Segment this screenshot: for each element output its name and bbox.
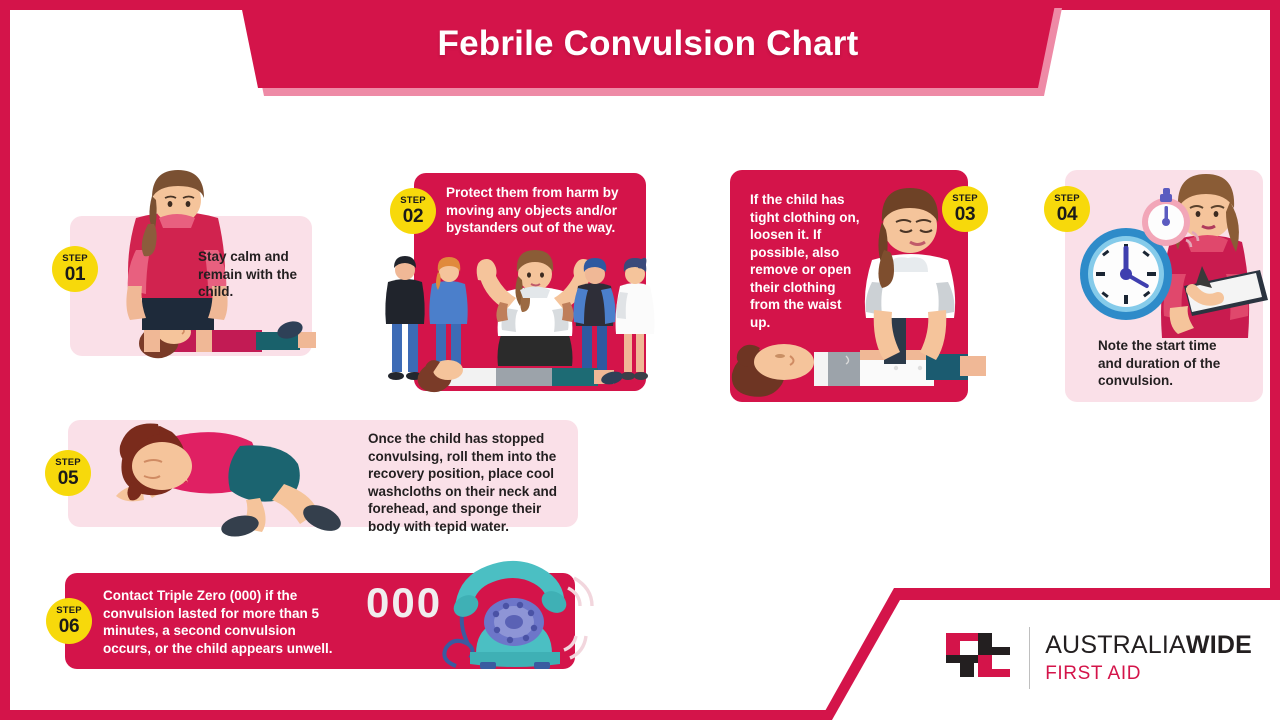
step-6-badge: STEP 06 bbox=[46, 598, 92, 644]
step-5-badge-number: 05 bbox=[58, 469, 79, 488]
step-4-badge-word: STEP bbox=[1054, 194, 1080, 204]
title-banner: Febrile Convulsion Chart bbox=[10, 0, 1270, 100]
step-2-badge-word: STEP bbox=[400, 196, 426, 206]
step-2-badge-number: 02 bbox=[403, 207, 424, 226]
page-title: Febrile Convulsion Chart bbox=[222, 0, 1074, 88]
step-1-text: Stay calm and remain with the child. bbox=[198, 248, 302, 301]
step-1-badge-word: STEP bbox=[62, 254, 88, 264]
logo-name-thin: AUSTRALIA bbox=[1045, 631, 1186, 659]
step-6-badge-word: STEP bbox=[56, 606, 82, 616]
brand-logo: AUSTRALIAWIDE FIRST AID bbox=[942, 619, 1252, 696]
step-4-badge: STEP 04 bbox=[1044, 186, 1090, 232]
step-6-emergency-number: 000 bbox=[366, 576, 446, 631]
logo-name-bold: WIDE bbox=[1186, 631, 1252, 659]
step-5-badge: STEP 05 bbox=[45, 450, 91, 496]
logo-divider bbox=[1029, 627, 1030, 689]
step-6-badge-number: 06 bbox=[59, 617, 80, 636]
step-4-illustration bbox=[1074, 178, 1264, 338]
step-4-text: Note the start time and duration of the … bbox=[1098, 337, 1238, 390]
infographic-page: Febrile Convulsion Chart bbox=[0, 0, 1280, 720]
step-6-illustration bbox=[430, 558, 595, 676]
step-5-badge-word: STEP bbox=[55, 458, 81, 468]
step-2-text: Protect them from harm by moving any obj… bbox=[446, 184, 646, 237]
step-2-badge: STEP 02 bbox=[390, 188, 436, 234]
step-3-badge-number: 03 bbox=[955, 205, 976, 224]
cross-quadrant-mark-icon bbox=[942, 619, 1014, 696]
step-1-badge-number: 01 bbox=[65, 265, 86, 284]
step-3-text: If the child has tight clothing on, loos… bbox=[750, 191, 860, 331]
logo-subtitle: FIRST AID bbox=[1045, 663, 1252, 685]
step-5-text: Once the child has stopped convulsing, r… bbox=[368, 430, 574, 535]
step-2-illustration bbox=[384, 258, 652, 392]
step-6-text: Contact Triple Zero (000) if the convuls… bbox=[103, 587, 347, 657]
step-3-badge-word: STEP bbox=[952, 194, 978, 204]
logo-wordmark: AUSTRALIAWIDE FIRST AID bbox=[1045, 631, 1252, 685]
step-5-illustration bbox=[88, 422, 358, 532]
step-3-badge: STEP 03 bbox=[942, 186, 988, 232]
step-1-badge: STEP 01 bbox=[52, 246, 98, 292]
step-4-badge-number: 04 bbox=[1057, 205, 1078, 224]
